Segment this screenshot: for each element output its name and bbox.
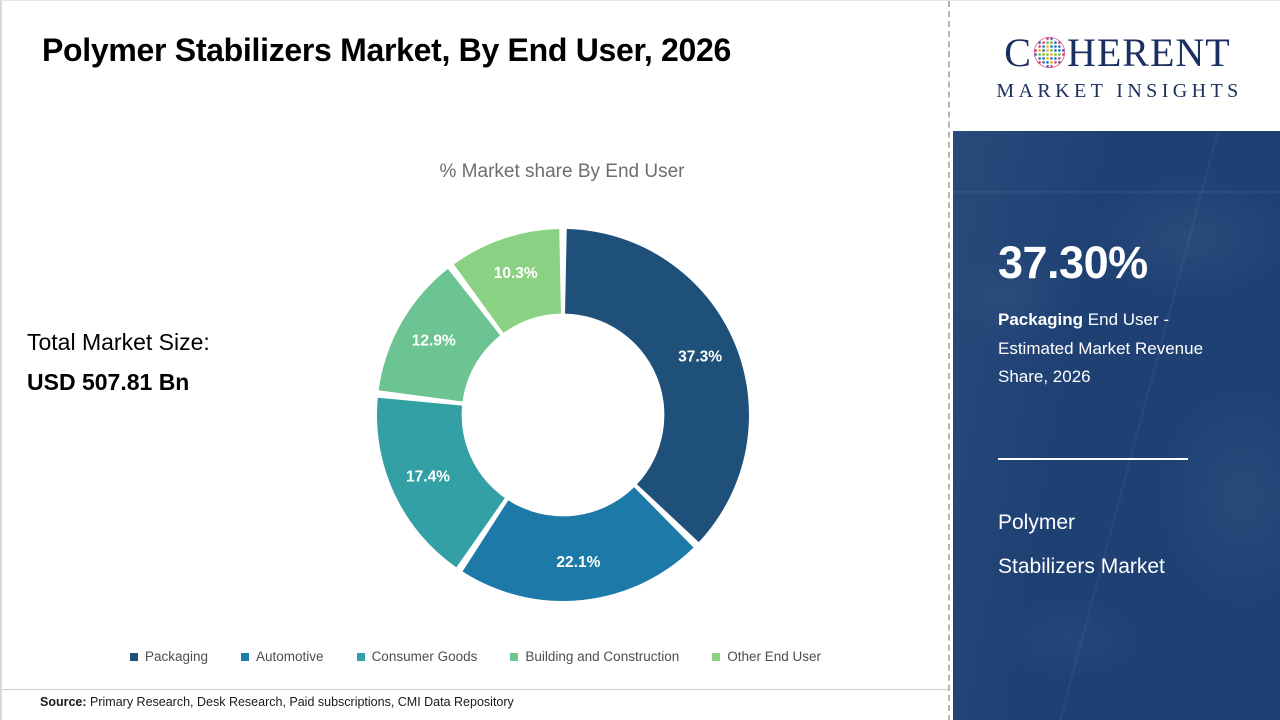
donut-slice[interactable] [565,229,749,542]
donut-chart-svg: 37.3%22.1%17.4%12.9%10.3% [377,229,749,601]
legend-item[interactable]: Automotive [241,649,324,664]
legend-label: Automotive [256,649,324,664]
legend-item[interactable]: Packaging [130,649,208,664]
source-divider [2,689,949,690]
legend-label: Consumer Goods [372,649,478,664]
dotted-globe-icon [1033,36,1066,69]
legend-item[interactable]: Consumer Goods [357,649,478,664]
source-label: Source: [40,695,87,709]
source-text: Primary Research, Desk Research, Paid su… [87,695,514,709]
chart-area: Polymer Stabilizers Market, By End User,… [2,1,949,720]
legend-swatch [357,653,365,661]
donut-chart: 37.3%22.1%17.4%12.9%10.3% [377,229,749,601]
slice-data-label: 37.3% [678,348,722,365]
panel-footer-line1: Polymer [998,501,1248,545]
panel-body: 37.30% Packaging End User - Estimated Ma… [953,131,1280,720]
legend-label: Other End User [727,649,821,664]
chart-legend: PackagingAutomotiveConsumer GoodsBuildin… [2,649,949,664]
legend-item[interactable]: Building and Construction [510,649,679,664]
slice-data-label: 10.3% [494,265,538,282]
source-line: Source: Primary Research, Desk Research,… [40,695,514,709]
total-market-size: Total Market Size: USD 507.81 Bn [27,323,210,402]
slice-data-label: 17.4% [406,469,450,486]
stat-value: 37.30% [998,240,1148,285]
logo-letter-c: C [1004,33,1032,73]
logo-word-rest: HERENT [1067,33,1231,73]
panel-footer-line2: Stabilizers Market [998,545,1248,589]
legend-swatch [241,653,249,661]
panel-footer: Polymer Stabilizers Market [998,501,1248,589]
panel-rule [998,458,1188,460]
logo-subtitle: MARKET INSIGHTS [992,80,1242,103]
legend-item[interactable]: Other End User [712,649,821,664]
stat-description: Packaging End User - Estimated Market Re… [998,306,1220,392]
legend-swatch [712,653,720,661]
slice-data-label: 22.1% [556,554,600,571]
stat-description-bold: Packaging [998,310,1083,329]
brand-logo: C HERENT MARKET INSIGHTS [953,1,1280,131]
legend-swatch [130,653,138,661]
legend-label: Packaging [145,649,208,664]
legend-label: Building and Construction [525,649,679,664]
right-panel: C HERENT MARKET INSIGHTS 37.30% Packagin… [953,1,1280,720]
legend-swatch [510,653,518,661]
logo-wordmark: C HERENT [1004,29,1230,77]
slide-canvas: Polymer Stabilizers Market, By End User,… [0,0,1280,720]
total-market-label: Total Market Size: [27,329,210,355]
donut-slices [377,229,749,601]
page-title: Polymer Stabilizers Market, By End User,… [42,32,731,69]
slice-data-label: 12.9% [412,332,456,349]
panel-divider [948,1,950,720]
total-market-value: USD 507.81 Bn [27,363,210,403]
